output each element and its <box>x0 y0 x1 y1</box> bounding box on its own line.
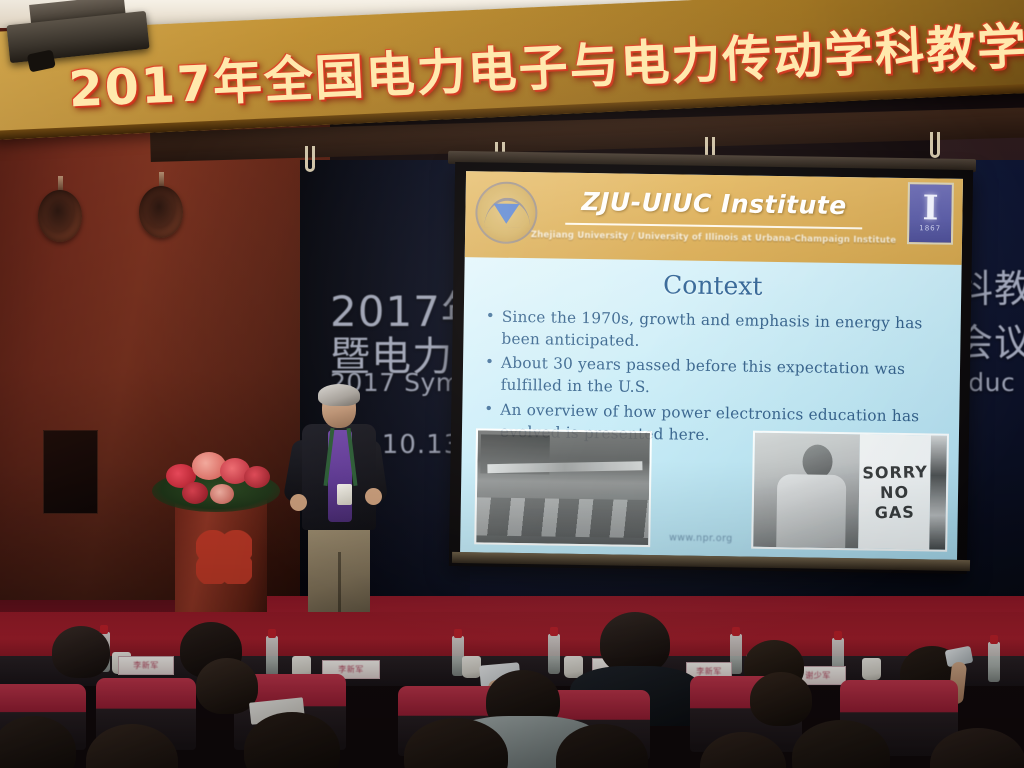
handwritten-sign: SORRY NO GAS <box>858 434 931 549</box>
slide-bullet: Since the 1970s, growth and emphasis in … <box>481 306 943 357</box>
uiuc-logo-icon: I 1867 <box>907 182 954 245</box>
ceramic-mug <box>462 656 481 678</box>
photo-edge-strip <box>929 435 947 549</box>
photo-attendant <box>753 433 860 549</box>
slide-body: Context Since the 1970s, growth and emph… <box>462 267 962 450</box>
flower-bloom <box>210 484 234 504</box>
presenter-hand <box>290 494 307 511</box>
podium-flower-emblem <box>196 530 252 584</box>
slide-photo-row: www.npr.org SORRY NO GAS <box>474 424 949 551</box>
audience-area: 李新军 李新军 谢少军 李新军 谢少军 <box>0 612 1024 768</box>
audience-head <box>600 612 670 674</box>
placard-name: 谢少军 <box>805 670 831 681</box>
uiuc-year: 1867 <box>919 225 941 233</box>
photo-car-queue <box>476 498 649 539</box>
presenter-hand <box>365 488 382 505</box>
photo-source-caption: www.npr.org <box>656 532 745 548</box>
water-bottle <box>548 634 560 674</box>
projection-screen: ZJU-UIUC Institute Zhejiang University /… <box>449 162 973 574</box>
water-bottle <box>988 642 1000 682</box>
flower-bloom <box>244 466 270 488</box>
slide-title: Context <box>482 267 943 303</box>
wall-panel <box>43 430 98 514</box>
conference-photo-scene: 2017年 暨电力电 2017 Sympos 7.10.13~15 科教学 会议… <box>0 0 1024 768</box>
wall-speaker-icon <box>38 190 82 242</box>
name-placard: 李新军 <box>118 656 174 675</box>
water-bottle <box>266 636 278 676</box>
photo-attendant-body <box>776 474 846 548</box>
slide-bullet: About 30 years passed before this expect… <box>481 353 943 404</box>
uiuc-letter: I <box>922 194 938 223</box>
no-gas-sign-photo: SORRY NO GAS <box>751 431 949 552</box>
sign-line-3: GAS <box>874 502 914 522</box>
audience-head <box>750 672 812 726</box>
slide-institute-subtitle: Zhejiang University / University of Illi… <box>465 229 962 247</box>
placard-name: 李新军 <box>133 660 159 671</box>
curtain-hook-icon <box>930 132 940 158</box>
floral-arrangement <box>152 442 280 514</box>
flower-bloom <box>182 482 208 504</box>
ceramic-mug <box>862 658 881 680</box>
presentation-slide: ZJU-UIUC Institute Zhejiang University /… <box>460 171 963 560</box>
slide-title-rule <box>565 223 862 230</box>
sign-line-2: NO <box>880 482 909 502</box>
audience-head <box>52 626 110 678</box>
curtain-hook-icon <box>305 146 315 172</box>
wall-speaker-icon <box>139 186 183 238</box>
slide-header: ZJU-UIUC Institute Zhejiang University /… <box>465 171 963 265</box>
slide-institute-title: ZJU-UIUC Institute <box>465 185 962 222</box>
photo-canopy <box>488 462 643 474</box>
placard-name: 李新军 <box>338 664 364 675</box>
presenter-hair <box>318 384 360 406</box>
gas-station-photo <box>474 428 652 547</box>
sign-line-1: SORRY <box>862 462 928 482</box>
presenter-badge <box>337 484 352 505</box>
